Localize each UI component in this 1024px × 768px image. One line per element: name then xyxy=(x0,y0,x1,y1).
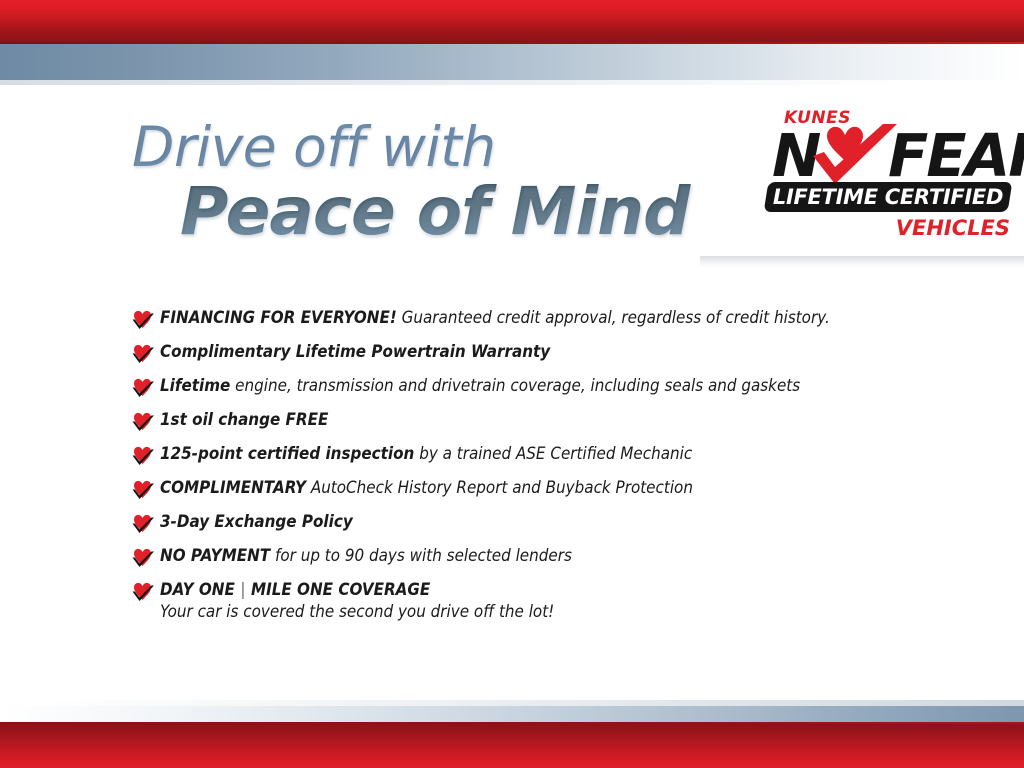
benefit-item-financing: FINANCING FOR EVERYONE! Guaranteed credi… xyxy=(131,307,931,331)
heart-check-bullet-icon xyxy=(131,582,155,603)
header-divider-band xyxy=(700,256,1024,268)
benefit-lead: NO PAYMENT xyxy=(160,546,270,565)
logo-word-vehicles: VEHICLES xyxy=(896,216,1010,240)
benefit-text: DAY ONE | MILE ONE COVERAGE xyxy=(160,579,554,600)
heart-check-bullet-icon xyxy=(131,514,155,535)
logo-no-fear-wordmark: N FEAR xyxy=(772,126,1016,188)
top-red-banner-bar xyxy=(0,0,1024,42)
benefit-rest: engine, transmission and drivetrain cove… xyxy=(230,376,800,395)
benefit-lead: Lifetime xyxy=(160,376,230,395)
benefit-item-no-payment: NO PAYMENT for up to 90 days with select… xyxy=(131,545,931,569)
benefit-item-lifetime-coverage: Lifetime engine, transmission and drivet… xyxy=(131,375,931,399)
benefit-text: 125-point certified inspection by a trai… xyxy=(160,443,692,464)
benefit-item-day-one-mile-one: DAY ONE | MILE ONE COVERAGE Your car is … xyxy=(131,579,931,623)
benefit-text: 3-Day Exchange Policy xyxy=(160,511,353,532)
benefit-item-oil-change: 1st oil change FREE xyxy=(131,409,931,433)
headline-block: Drive off with Peace of Mind xyxy=(132,118,732,246)
benefit-separator: | xyxy=(235,580,251,599)
benefit-item-exchange-policy: 3-Day Exchange Policy xyxy=(131,511,931,535)
benefit-item-autocheck: COMPLIMENTARY AutoCheck History Report a… xyxy=(131,477,931,501)
headline-line-1: Drive off with xyxy=(132,118,732,176)
kunes-no-fear-logo: KUNES N FEAR LIFETIME CERTIFIED VEHICLES xyxy=(766,108,1016,243)
benefit-lead: 1st oil change FREE xyxy=(160,410,328,429)
heart-check-bullet-icon xyxy=(131,310,155,331)
benefit-lead: DAY ONE xyxy=(160,580,235,599)
benefit-lead-2: MILE ONE COVERAGE xyxy=(251,580,430,599)
benefit-text: COMPLIMENTARY AutoCheck History Report a… xyxy=(160,477,693,498)
benefit-text: Lifetime engine, transmission and drivet… xyxy=(160,375,800,396)
benefits-list: FINANCING FOR EVERYONE! Guaranteed credi… xyxy=(131,307,931,623)
benefit-rest: Guaranteed credit approval, regardless o… xyxy=(397,308,830,327)
heart-check-bullet-icon xyxy=(131,446,155,467)
heart-check-bullet-icon xyxy=(131,412,155,433)
benefit-text: FINANCING FOR EVERYONE! Guaranteed credi… xyxy=(160,307,830,328)
benefit-lead: Complimentary Lifetime Powertrain Warran… xyxy=(160,342,550,361)
benefit-rest: by a trained ASE Certified Mechanic xyxy=(414,444,692,463)
heart-check-bullet-icon xyxy=(131,378,155,399)
benefit-lead: FINANCING FOR EVERYONE! xyxy=(160,308,397,327)
benefit-lead: 3-Day Exchange Policy xyxy=(160,512,353,531)
benefit-rest: AutoCheck History Report and Buyback Pro… xyxy=(306,478,693,497)
benefit-text: NO PAYMENT for up to 90 days with select… xyxy=(160,545,572,566)
bottom-red-banner-bar xyxy=(0,724,1024,768)
heart-check-bullet-icon xyxy=(131,548,155,569)
bottom-gray-gradient-bar xyxy=(0,706,1024,722)
heart-check-bullet-icon xyxy=(131,480,155,501)
benefit-text: Complimentary Lifetime Powertrain Warran… xyxy=(160,341,550,362)
benefit-lead: 125-point certified inspection xyxy=(160,444,414,463)
benefit-rest: for up to 90 days with selected lenders xyxy=(270,546,572,565)
benefit-subtext: Your car is covered the second you drive… xyxy=(160,601,554,623)
top-gray-bar-shadow xyxy=(0,80,1024,85)
benefit-item-inspection: 125-point certified inspection by a trai… xyxy=(131,443,931,467)
logo-word-fear: FEAR xyxy=(888,126,1024,185)
benefit-text-group: DAY ONE | MILE ONE COVERAGE Your car is … xyxy=(160,579,589,623)
headline-line-2: Peace of Mind xyxy=(180,178,732,246)
benefit-text: 1st oil change FREE xyxy=(160,409,328,430)
benefit-lead: COMPLIMENTARY xyxy=(160,478,306,497)
heart-check-bullet-icon xyxy=(131,344,155,365)
benefit-item-powertrain-warranty: Complimentary Lifetime Powertrain Warran… xyxy=(131,341,931,365)
top-gray-gradient-bar xyxy=(0,44,1024,80)
logo-banner-text: LIFETIME CERTIFIED xyxy=(766,182,1010,212)
